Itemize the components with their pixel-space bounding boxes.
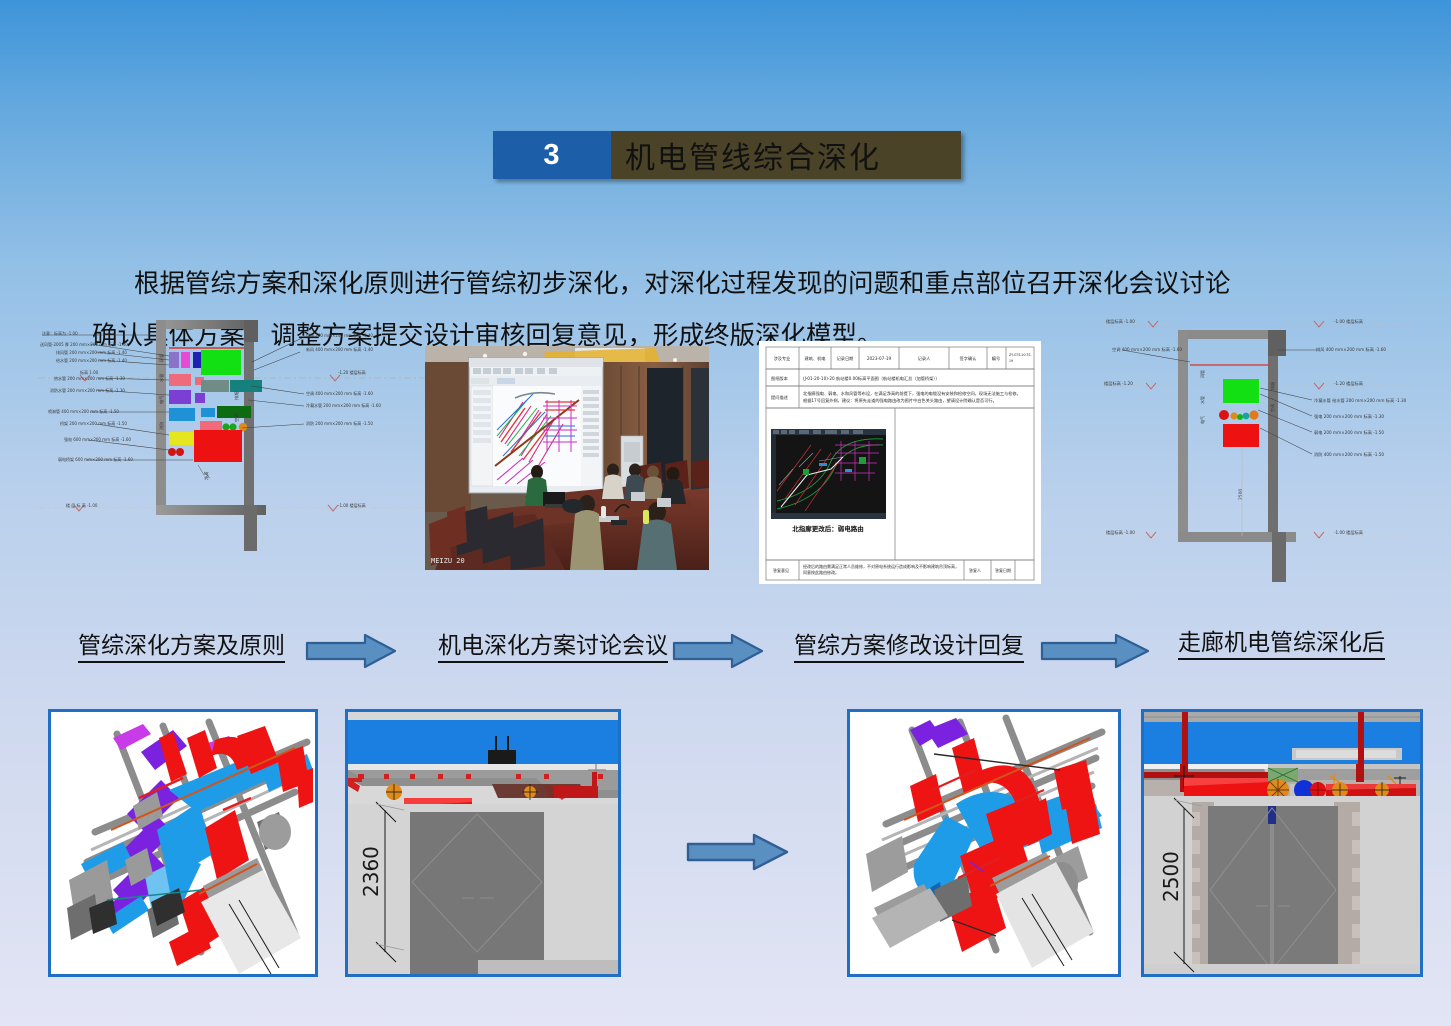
svg-text:2500: 2500 <box>1238 489 1244 500</box>
svg-text:-1.20 楼层标高: -1.20 楼层标高 <box>1334 380 1363 387</box>
svg-text:桥架 200 mm×200 mm 标高 -1.50: 桥架 200 mm×200 mm 标高 -1.50 <box>60 420 127 426</box>
figure-pipeline-scheme-section: 注意：标高为 -1.00 送风管-2005 厚 200 mm×200 mm 标高… <box>38 300 428 600</box>
svg-text:注意：标高为 -1.00: 注意：标高为 -1.00 <box>42 330 78 336</box>
svg-text:冷凝水管 200 mm×200 mm 标高 -1.60: 冷凝水管 200 mm×200 mm 标高 -1.60 <box>306 402 381 408</box>
dimension-label-2500: 2500 <box>1159 851 1183 902</box>
svg-text:消防水管 200 mm×200 mm 标高 -1.30: 消防水管 200 mm×200 mm 标高 -1.30 <box>50 387 125 393</box>
svg-text:水管: 水管 <box>158 374 165 382</box>
svg-text:水管: 水管 <box>1199 396 1205 404</box>
svg-text:楼 层 标 高 -1.00: 楼 层 标 高 -1.00 <box>66 502 98 508</box>
figure-meeting-photo: MEIZU 20 <box>425 346 709 570</box>
flow-arrow-3 <box>1040 632 1150 675</box>
svg-text:标高 1.00: 标高 1.00 <box>80 369 99 375</box>
svg-text:风管: 风管 <box>158 354 165 362</box>
caption-scheme-principles: 管综深化方案及原则 <box>78 630 285 663</box>
svg-text:记录人: 记录人 <box>918 355 931 361</box>
svg-text:签字确认: 签字确认 <box>960 355 978 362</box>
svg-text:冷凝水管 给水管 200 mm×200 mm 标高 -1.3: 冷凝水管 给水管 200 mm×200 mm 标高 -1.30 <box>1314 397 1407 404</box>
svg-text:强电 600 mm×200 mm 标高 -1.60: 强电 600 mm×200 mm 标高 -1.60 <box>64 436 131 442</box>
svg-text:-1.00 楼层标高: -1.00 楼层标高 <box>338 502 366 508</box>
flow-arrow-1 <box>305 632 397 675</box>
page-title: 机电管线综合深化 <box>611 131 961 179</box>
svg-text:空调: 空调 <box>1269 404 1275 412</box>
figure-bim-3d-before <box>48 709 318 977</box>
flow-arrow-bottom <box>686 832 790 877</box>
figure-design-reply-document: 涉及专业建筑、机电 记录日期2023-07-19 记录人签字确认 编号 ZY-G… <box>759 341 1041 584</box>
dimension-label-2360: 2360 <box>359 846 383 897</box>
caption-corridor-after: 走廊机电管综深化后 <box>1178 627 1385 660</box>
svg-text:-1.00 楼层标高: -1.00 楼层标高 <box>1334 318 1363 325</box>
svg-text:图纸版本: 图纸版本 <box>771 375 789 382</box>
svg-text:根据17号回复外侧，建议：将原先走道的强电路由改为图片中白色: 根据17号回复外侧，建议：将原先走道的强电路由改为图片中白色关头路由，望请设计院… <box>803 397 997 404</box>
svg-text:楼层标高 -1.20: 楼层标高 -1.20 <box>1104 380 1133 387</box>
svg-text:弱电桥架 600 mm×200 mm 标高 -1.60: 弱电桥架 600 mm×200 mm 标高 -1.60 <box>58 456 133 462</box>
svg-text:新风 400 mm×200 mm 标高 -1.40: 新风 400 mm×200 mm 标高 -1.40 <box>306 346 373 352</box>
flow-arrow-2 <box>672 632 764 675</box>
svg-text:答复意见: 答复意见 <box>773 567 789 573</box>
bim3d-after-svg <box>850 712 1118 974</box>
photo-watermark: MEIZU 20 <box>431 557 465 565</box>
cad-section-svg-2: 楼层标高 -1.00-1.00 楼层标高 楼层标高 -1.20-1.20 楼层标… <box>1082 300 1422 600</box>
caption-discussion-meeting: 机电深化方案讨论会议 <box>438 630 668 663</box>
svg-text:排烟: 排烟 <box>233 392 240 400</box>
svg-text:同意按此路由修改。: 同意按此路由修改。 <box>803 569 839 575</box>
svg-text:喷淋管 400 mm×200 mm 标高 -1.50: 喷淋管 400 mm×200 mm 标高 -1.50 <box>48 408 119 414</box>
svg-text:19: 19 <box>1009 359 1013 363</box>
figure-bim-3d-after <box>847 709 1121 977</box>
svg-text:消防: 消防 <box>158 422 165 430</box>
bim3d-before-svg <box>51 712 315 974</box>
svg-text:-1.20 楼层标高: -1.20 楼层标高 <box>338 369 366 375</box>
svg-text:给水管 200 mm×200 mm 标高 -1.40: 给水管 200 mm×200 mm 标高 -1.40 <box>56 357 127 363</box>
svg-text:消防 400 mm×200 mm 标高 -1.50: 消防 400 mm×200 mm 标高 -1.50 <box>1314 451 1384 458</box>
svg-text:净高: 净高 <box>203 472 210 480</box>
svg-text:弱电 200 mm×200 mm 标高 -1.50: 弱电 200 mm×200 mm 标高 -1.50 <box>1314 429 1384 436</box>
slide-title-banner: 3 机电管线综合深化 <box>493 131 961 179</box>
svg-text:答复日期: 答复日期 <box>995 567 1011 573</box>
document-svg: 涉及专业建筑、机电 记录日期2023-07-19 记录人签字确认 编号 ZY-G… <box>759 341 1041 584</box>
svg-text:-1.00 楼层标高: -1.00 楼层标高 <box>1334 529 1363 536</box>
svg-text:消防 200 mm×200 mm 标高 -1.50: 消防 200 mm×200 mm 标高 -1.50 <box>306 420 373 426</box>
svg-text:经改后的路由需满足正常人员维修，不对原电系统运行造成影响及不: 经改后的路由需满足正常人员维修，不对原电系统运行造成影响及不影响建筑吊顶标高， <box>803 563 959 569</box>
svg-text:编号: 编号 <box>992 355 1000 362</box>
svg-text:空调: 空调 <box>233 414 240 422</box>
svg-text:2023-07-19: 2023-07-19 <box>867 356 892 361</box>
svg-text:送风管-2005 厚 200 mm×200 mm 标高 -1: 送风管-2005 厚 200 mm×200 mm 标高 -1.40 <box>40 341 128 347</box>
svg-text:排风管 200 mm×200 mm 标高 -1.40: 排风管 200 mm×200 mm 标高 -1.40 <box>56 349 127 355</box>
svg-text:排烟: 排烟 <box>1269 382 1275 390</box>
svg-text:排烟 200 mm×200 mm 标高 -1.40: 排烟 200 mm×200 mm 标高 -1.40 <box>306 332 373 338</box>
svg-text:答复人: 答复人 <box>969 567 981 573</box>
svg-text:风管: 风管 <box>1199 370 1205 378</box>
svg-text:涉及专业: 涉及专业 <box>774 355 791 362</box>
section-before-svg: 2360 <box>348 712 618 974</box>
section-number: 3 <box>493 131 611 179</box>
svg-text:电气: 电气 <box>158 395 164 404</box>
section-after-svg: 2500 <box>1144 712 1420 974</box>
svg-text:楼层标高 -1.00: 楼层标高 -1.00 <box>1106 529 1135 536</box>
svg-text:建筑、机电: 建筑、机电 <box>805 355 827 362</box>
svg-text:ZY-GTS-20-TS-: ZY-GTS-20-TS- <box>1009 353 1032 357</box>
figure-section-before: 2360 <box>345 709 621 977</box>
meeting-photo-svg: MEIZU 20 <box>425 346 709 570</box>
document-image-caption: 北指廊更改后：弱电路由 <box>792 524 864 533</box>
figure-section-after: 2500 <box>1141 709 1423 977</box>
svg-text:楼层标高 -1.00: 楼层标高 -1.00 <box>1106 318 1135 325</box>
svg-text:排风 400 mm×200 mm 标高 -1.60: 排风 400 mm×200 mm 标高 -1.60 <box>1316 346 1386 353</box>
cad-section-svg-1: 注意：标高为 -1.00 送风管-2005 厚 200 mm×200 mm 标高… <box>38 300 428 600</box>
svg-text:记录日期: 记录日期 <box>837 355 854 362</box>
svg-text:电气: 电气 <box>1199 416 1205 424</box>
svg-text:提问描述: 提问描述 <box>771 394 789 401</box>
svg-text:北指廊强电、弱电、水和风管等布设，在满足净高的前提下，强电的: 北指廊强电、弱电、水和风管等布设，在满足净高的前提下，强电的电缆没有安装和检修空… <box>803 390 1021 397</box>
svg-text:热水管 200 mm×200 mm 标高 -1.30: 热水管 200 mm×200 mm 标高 -1.30 <box>54 375 125 381</box>
svg-text:(J-01-20-10)-20 航站楼0.00标高平面图（航: (J-01-20-10)-20 航站楼0.00标高平面图（航站楼机电汇总（加管桥… <box>803 375 940 382</box>
svg-text:空调 400 mm×200 mm 标高 -1.60: 空调 400 mm×200 mm 标高 -1.60 <box>306 390 373 396</box>
svg-text:强电 200 mm×200 mm 标高 -1.30: 强电 200 mm×200 mm 标高 -1.30 <box>1314 413 1384 420</box>
svg-text:空调 400 mm×200 mm 标高 -1.60: 空调 400 mm×200 mm 标高 -1.60 <box>1112 346 1182 353</box>
figure-corridor-optimized-section: 楼层标高 -1.00-1.00 楼层标高 楼层标高 -1.20-1.20 楼层标… <box>1082 300 1422 600</box>
caption-design-reply: 管综方案修改设计回复 <box>794 630 1024 663</box>
